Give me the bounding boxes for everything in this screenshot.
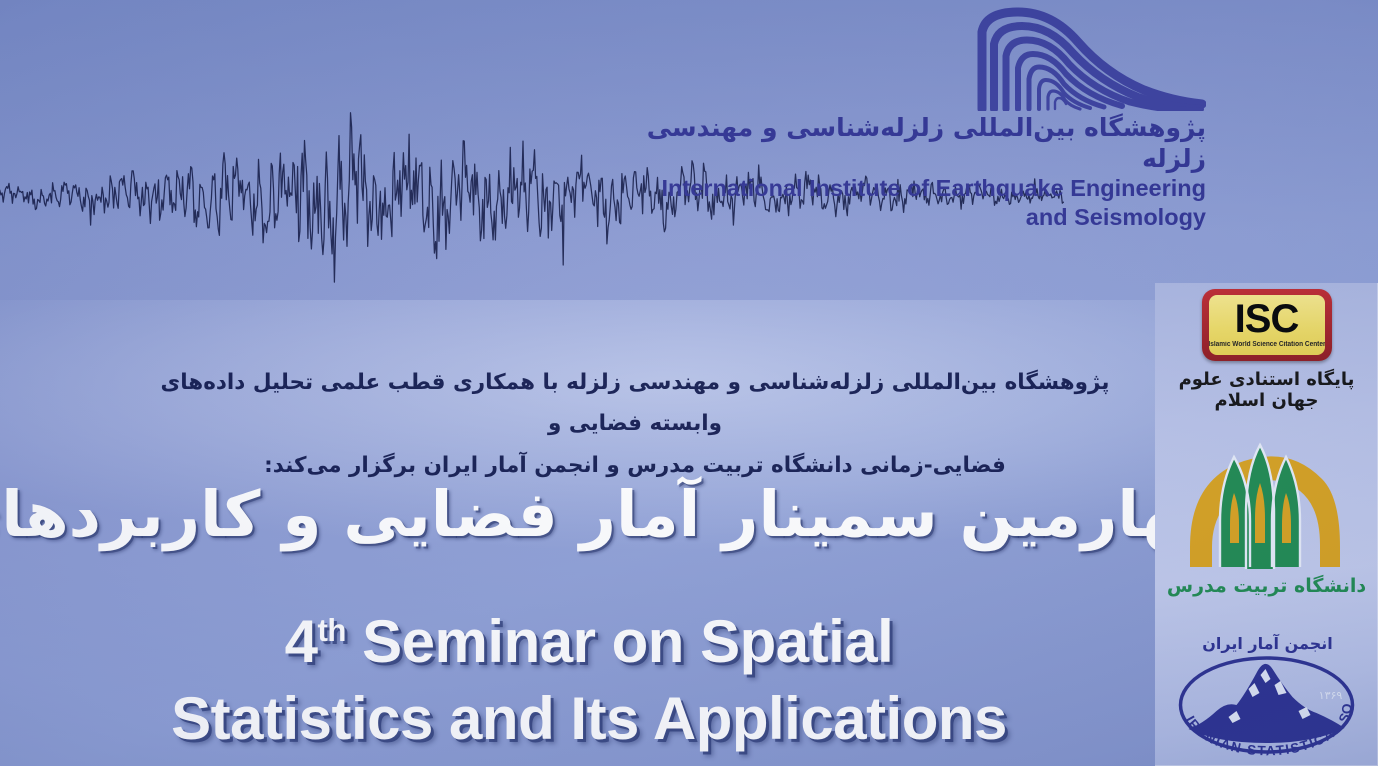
intro-line-1: پژوهشگاه بین‌المللی زلزله‌شناسی و مهندسی… (130, 362, 1140, 445)
institute-logo-block: پژوهشگاه بین‌المللی زلزله‌شناسی و مهندسی… (576, 6, 1206, 231)
institute-name-persian: پژوهشگاه بین‌المللی زلزله‌شناسی و مهندسی… (576, 113, 1206, 174)
iiees-wave-mark (974, 6, 1206, 111)
sponsor-iranian-statistical-society: IRANIAN STATISTICAL SOCIETY 1990 انجمن آ… (1155, 623, 1378, 766)
isc-acronym: ISC (1235, 299, 1299, 339)
page-title-english: 4th Seminar on Spatial Statistics and It… (0, 604, 1178, 758)
institute-name-english-line-2: and Seismology (576, 204, 1206, 232)
title-ordinal-suffix: th (318, 613, 346, 648)
page-title-persian: چهارمین سمینار آمار فضایی و کاربردهای آن (0, 478, 1228, 552)
intro-paragraph: پژوهشگاه بین‌المللی زلزله‌شناسی و مهندسی… (130, 362, 1140, 486)
title-english-line-1: 4th Seminar on Spatial (0, 604, 1178, 681)
title-english-rest-1: Seminar on Spatial (362, 608, 893, 675)
sponsor-isc: ISC Islamic World Science Citation Cente… (1155, 283, 1378, 433)
seminar-poster: پژوهشگاه بین‌المللی زلزله‌شناسی و مهندسی… (0, 0, 1378, 766)
sponsor-logo-panel: ISC Islamic World Science Citation Cente… (1155, 283, 1378, 766)
iss-year-persian: ۱۳۶۹ (1318, 689, 1342, 702)
institute-name-english-line-1: International Institute of Earthquake En… (576, 175, 1206, 203)
title-ordinal-number: 4 (285, 608, 318, 675)
isc-badge-icon: ISC Islamic World Science Citation Cente… (1202, 289, 1332, 361)
isc-caption-persian: پایگاه استنادی علوم جهان اسلام (1155, 369, 1378, 411)
isc-subtitle: Islamic World Science Citation Center (1209, 341, 1325, 348)
tmu-caption-persian: دانشگاه تربیت مدرس (1155, 575, 1378, 597)
iss-caption-persian: انجمن آمار ایران (1202, 633, 1332, 653)
sponsor-tarbiat-modares: دانشگاه تربیت مدرس (1155, 433, 1378, 623)
tarbiat-modares-arch-tulip-icon (1172, 435, 1362, 575)
title-english-line-2: Statistics and Its Applications (0, 681, 1178, 758)
iranian-statistical-society-mountain-icon: IRANIAN STATISTICAL SOCIETY 1990 انجمن آ… (1164, 625, 1369, 763)
